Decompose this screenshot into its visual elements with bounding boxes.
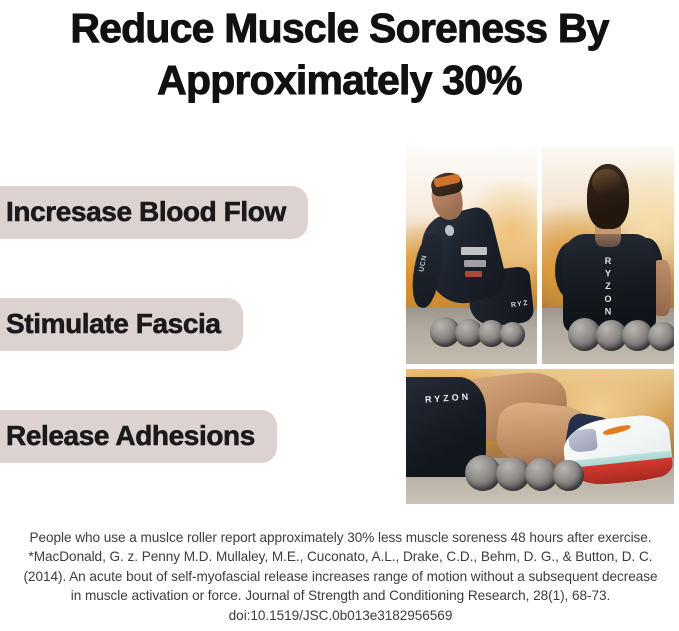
athlete-back-brand-text: RYZON bbox=[603, 256, 613, 319]
massage-roller bbox=[568, 318, 674, 351]
massage-roller bbox=[465, 455, 584, 491]
cyclist-jersey-sponsor-2 bbox=[464, 260, 486, 267]
feature-pill-fascia: Stimulate Fascia bbox=[0, 298, 243, 351]
photo-collage: UCN RYZ RYZON bbox=[406, 147, 674, 504]
shoe-brand-mark bbox=[602, 423, 631, 436]
page-title: Reduce Muscle Soreness By Approximately … bbox=[0, 2, 679, 106]
photo-cyclist-leaning-on-roller: UCN RYZ bbox=[406, 147, 537, 364]
footnote-citation: People who use a muslce roller report ap… bbox=[18, 528, 663, 625]
cyclist-jersey-sponsor-1 bbox=[461, 247, 487, 256]
headline-line-2: Approximately 30% bbox=[0, 54, 679, 106]
feature-pill-adhesions: Release Adhesions bbox=[0, 410, 277, 463]
infographic-page: Reduce Muscle Soreness By Approximately … bbox=[0, 0, 679, 631]
cyclist-jersey-sponsor-3 bbox=[465, 271, 482, 277]
headline-line-1: Reduce Muscle Soreness By bbox=[0, 2, 679, 54]
collage-top-row: UCN RYZ RYZON bbox=[406, 147, 674, 364]
feature-pill-blood-flow: Incresase Blood Flow bbox=[0, 186, 308, 239]
photo-legs-calf-on-roller: RYZON bbox=[406, 369, 674, 504]
massage-roller bbox=[430, 317, 525, 347]
photo-athlete-back-on-roller: RYZON bbox=[542, 147, 674, 364]
shoe-laces bbox=[568, 428, 598, 453]
athlete-hair-highlight bbox=[592, 169, 621, 195]
